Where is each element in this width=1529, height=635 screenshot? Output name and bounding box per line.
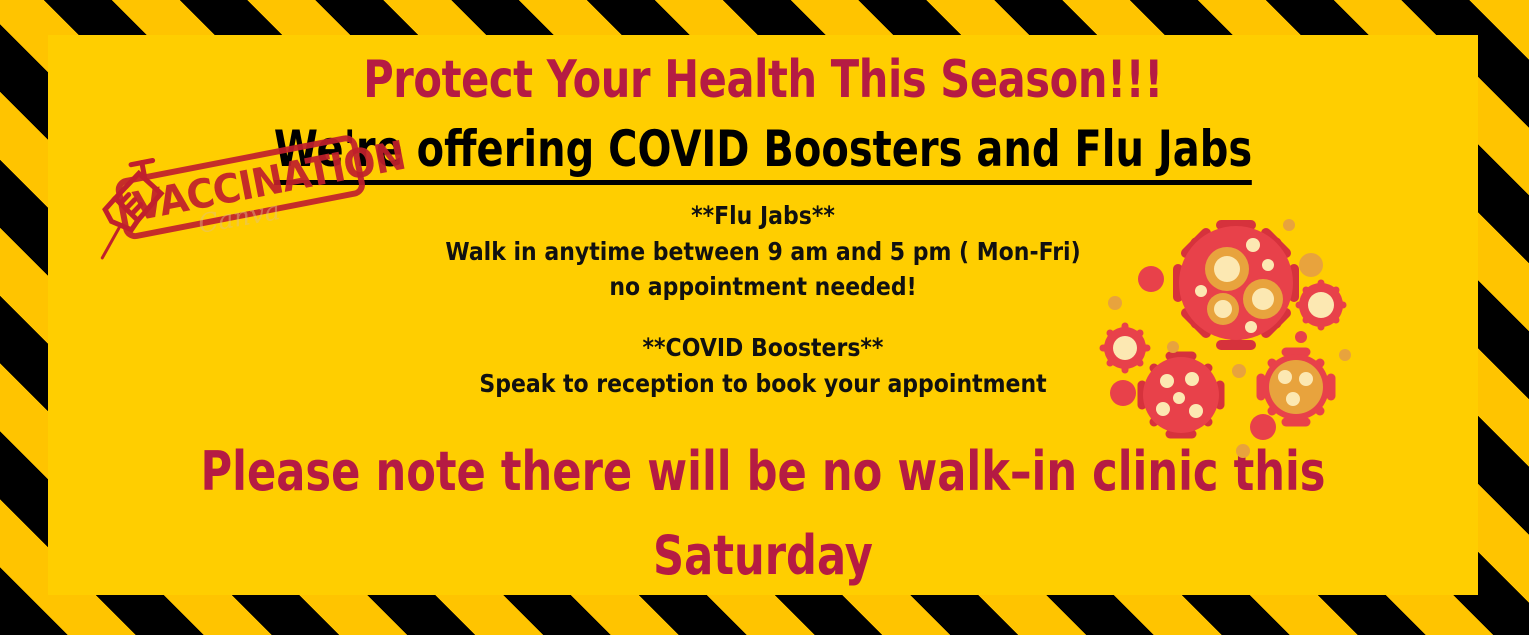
virus-large [1178, 225, 1294, 345]
virus-small-right [1299, 283, 1343, 327]
virus-bottom-left [1142, 356, 1220, 434]
closure-notice-line-2: Saturday [191, 514, 1335, 595]
virus-bottom-right [1261, 352, 1331, 422]
poster-root: Protect Your Health This Season!!! We're… [0, 0, 1529, 635]
poster-panel: Protect Your Health This Season!!! We're… [48, 35, 1478, 595]
coronavirus-cluster-icon [1093, 195, 1363, 460]
virus-small-left [1103, 326, 1147, 370]
poster-content: Protect Your Health This Season!!! We're… [48, 35, 1478, 595]
page-title: Protect Your Health This Season!!! [191, 53, 1335, 108]
subtitle-text: We're offering COVID Boosters and Flu Ja… [274, 120, 1252, 185]
